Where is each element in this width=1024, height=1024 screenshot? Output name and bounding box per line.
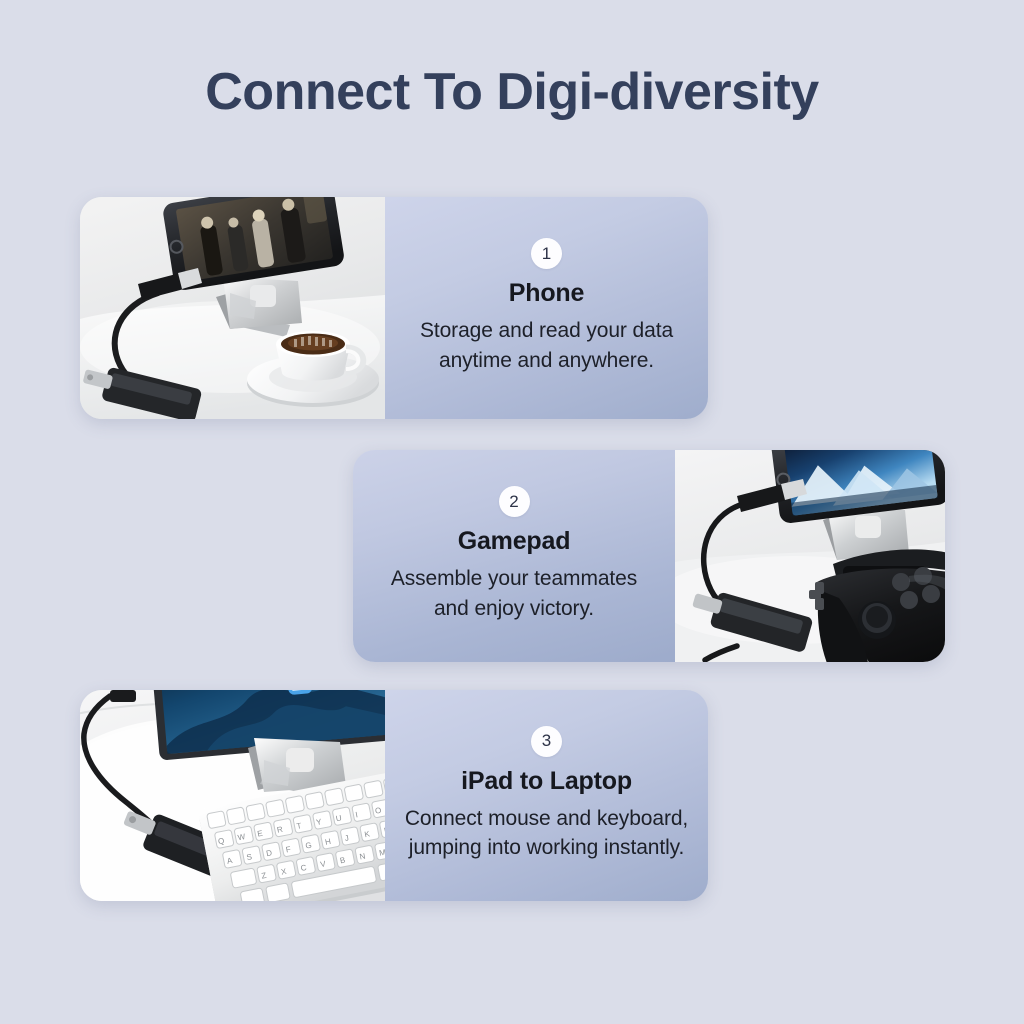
photo-tablet-with-keyboard: QWE RTY UIO ASD FGH JKL ZXC VBN M xyxy=(80,690,385,901)
photo-phone-with-gamepad xyxy=(675,450,945,662)
card-3-title: iPad to Laptop xyxy=(461,767,632,796)
photo-phone-illustration xyxy=(80,197,385,419)
step-badge-3: 3 xyxy=(531,726,562,757)
card-1-description: Storage and read your data anytime and a… xyxy=(403,316,690,376)
card-2-title: Gamepad xyxy=(458,527,571,556)
feature-card-ipad-to-laptop[interactable]: QWE RTY UIO ASD FGH JKL ZXC VBN M 3 iPad… xyxy=(80,690,708,901)
card-3-description: Connect mouse and keyboard, jumping into… xyxy=(403,804,690,864)
card-1-text-panel: 1 Phone Storage and read your data anyti… xyxy=(385,197,708,419)
feature-card-phone[interactable]: 1 Phone Storage and read your data anyti… xyxy=(80,197,708,419)
card-2-text-panel: 2 Gamepad Assemble your teammates and en… xyxy=(353,450,675,662)
infographic-root: Connect To Digi-diversity xyxy=(0,0,1024,1024)
step-badge-1: 1 xyxy=(531,238,562,269)
photo-gamepad-illustration xyxy=(675,450,945,662)
card-1-title: Phone xyxy=(509,279,584,308)
photo-phone-with-coffee xyxy=(80,197,385,419)
photo-ipad-illustration: QWE RTY UIO ASD FGH JKL ZXC VBN M xyxy=(80,690,385,901)
card-2-description: Assemble your teammates and enjoy victor… xyxy=(371,564,657,624)
step-badge-2: 2 xyxy=(499,486,530,517)
svg-text:M: M xyxy=(378,848,385,858)
feature-card-gamepad[interactable]: 2 Gamepad Assemble your teammates and en… xyxy=(353,450,945,662)
card-3-text-panel: 3 iPad to Laptop Connect mouse and keybo… xyxy=(385,690,708,901)
page-title: Connect To Digi-diversity xyxy=(0,62,1024,122)
